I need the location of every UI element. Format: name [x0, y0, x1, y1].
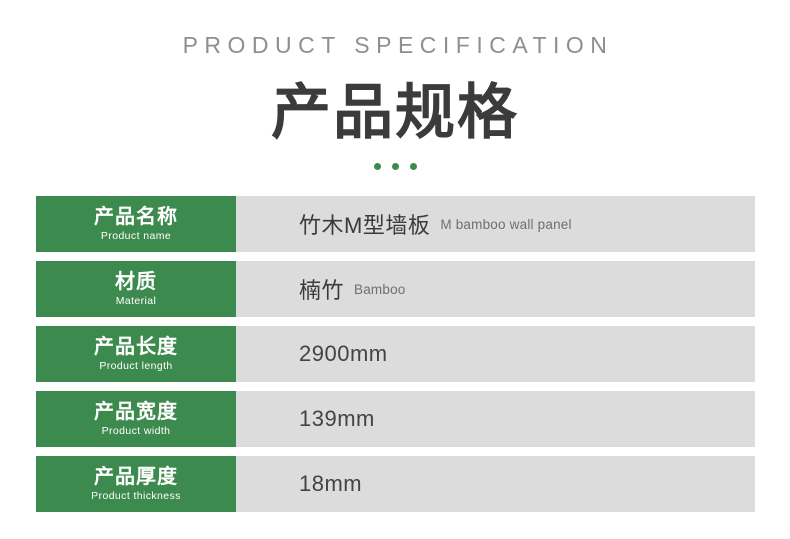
spec-value-cell: 139mm: [236, 391, 755, 447]
spec-label-en: Product name: [101, 231, 171, 243]
spec-label-cn: 产品名称: [94, 206, 178, 229]
spec-label-cell: 材质 Material: [36, 261, 236, 317]
spec-label-en: Material: [116, 296, 157, 308]
spec-value-cn: 2900mm: [299, 341, 388, 367]
eyebrow-title: PRODUCT SPECIFICATION: [0, 34, 790, 57]
dot-icon: [410, 163, 417, 170]
spec-value-cell: 楠竹 Bamboo: [236, 261, 755, 317]
spec-label-cell: 产品厚度 Product thickness: [36, 456, 236, 512]
spec-value-cell: 2900mm: [236, 326, 755, 382]
spec-value-en: Bamboo: [354, 282, 405, 297]
product-specification-page: PRODUCT SPECIFICATION 产品规格 产品名称 Product …: [0, 0, 790, 539]
dot-separator: [0, 163, 790, 170]
table-row: 产品宽度 Product width 139mm: [36, 391, 755, 447]
spec-label-cell: 产品名称 Product name: [36, 196, 236, 252]
spec-value-en: M bamboo wall panel: [440, 217, 571, 232]
spec-label-en: Product thickness: [91, 491, 181, 503]
spec-label-cn: 产品厚度: [94, 466, 178, 489]
spec-value-cn: 竹木M型墙板: [299, 208, 430, 240]
spec-label-cn: 产品宽度: [94, 401, 178, 424]
spec-label-cell: 产品宽度 Product width: [36, 391, 236, 447]
table-row: 材质 Material 楠竹 Bamboo: [36, 261, 755, 317]
table-row: 产品长度 Product length 2900mm: [36, 326, 755, 382]
table-row: 产品厚度 Product thickness 18mm: [36, 456, 755, 512]
spec-label-en: Product length: [99, 361, 172, 373]
specification-table: 产品名称 Product name 竹木M型墙板 M bamboo wall p…: [0, 196, 790, 512]
page-title: 产品规格: [0, 78, 790, 147]
spec-label-cn: 材质: [115, 271, 157, 294]
dot-icon: [374, 163, 381, 170]
spec-label-cell: 产品长度 Product length: [36, 326, 236, 382]
spec-value-cell: 竹木M型墙板 M bamboo wall panel: [236, 196, 755, 252]
spec-value-cn: 楠竹: [299, 273, 344, 305]
spec-value-cell: 18mm: [236, 456, 755, 512]
page-header: PRODUCT SPECIFICATION 产品规格: [0, 0, 790, 170]
spec-value-cn: 139mm: [299, 406, 375, 432]
table-row: 产品名称 Product name 竹木M型墙板 M bamboo wall p…: [36, 196, 755, 252]
spec-label-en: Product width: [102, 426, 171, 438]
spec-value-cn: 18mm: [299, 471, 362, 497]
dot-icon: [392, 163, 399, 170]
spec-label-cn: 产品长度: [94, 336, 178, 359]
